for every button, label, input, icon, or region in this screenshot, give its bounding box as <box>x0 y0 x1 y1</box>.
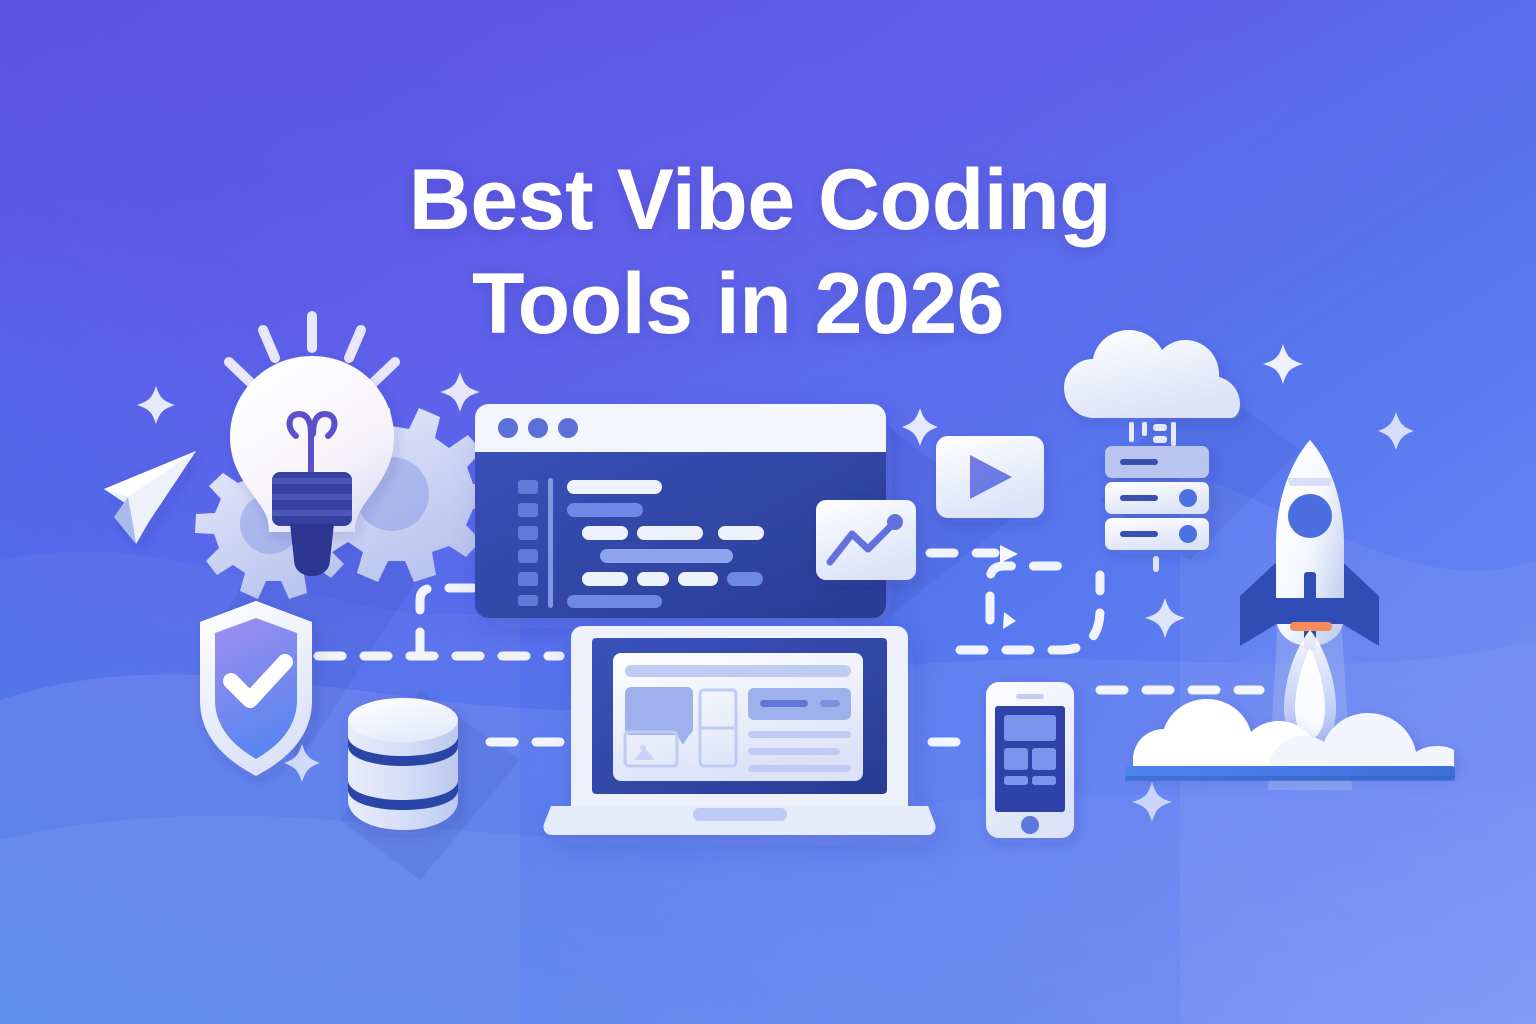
sparkle-icon <box>137 386 175 424</box>
sparkle-icon <box>1132 782 1172 822</box>
chart-card <box>816 500 916 580</box>
sparkle-icon <box>440 372 480 412</box>
paper-plane-icon <box>104 451 196 544</box>
chart-endpoint-dot <box>887 514 903 530</box>
phone-speaker <box>1016 694 1044 699</box>
database-icon <box>348 698 458 830</box>
illustration-layer <box>0 0 1536 1024</box>
window-dot-1 <box>498 418 518 438</box>
database-top <box>348 698 458 742</box>
rocket-nose-seam <box>1287 478 1333 486</box>
rocket-thruster <box>1290 622 1332 631</box>
laptop-trackpad-notch <box>693 808 787 821</box>
sparkle-icon <box>1145 598 1185 638</box>
server-downlink <box>1153 556 1159 572</box>
rocket-porthole <box>1288 494 1332 538</box>
server-led-2 <box>1179 525 1197 543</box>
server-rack <box>1105 446 1209 550</box>
server-led-1 <box>1179 489 1197 507</box>
laptop-ui-mockup <box>613 653 863 781</box>
laptop <box>543 626 935 835</box>
window-dot-2 <box>528 418 548 438</box>
code-window-traffic-lights <box>498 418 578 438</box>
sparkle-icon <box>1263 344 1303 384</box>
code-gutter-divider <box>548 478 553 608</box>
hero-banner: Best Vibe Coding Tools in 2026 <box>0 0 1536 1024</box>
connector-arrowheads <box>1000 545 1018 629</box>
window-dot-3 <box>558 418 578 438</box>
rocket-wing-bar <box>1273 598 1347 624</box>
cloud-icon <box>1064 330 1240 418</box>
sparkle-icon <box>1378 412 1414 450</box>
smartphone <box>986 682 1074 838</box>
lightbulb-screw <box>290 524 334 576</box>
sparkle-icon <box>902 408 938 446</box>
play-card <box>936 436 1044 518</box>
phone-home-button <box>1021 816 1039 834</box>
